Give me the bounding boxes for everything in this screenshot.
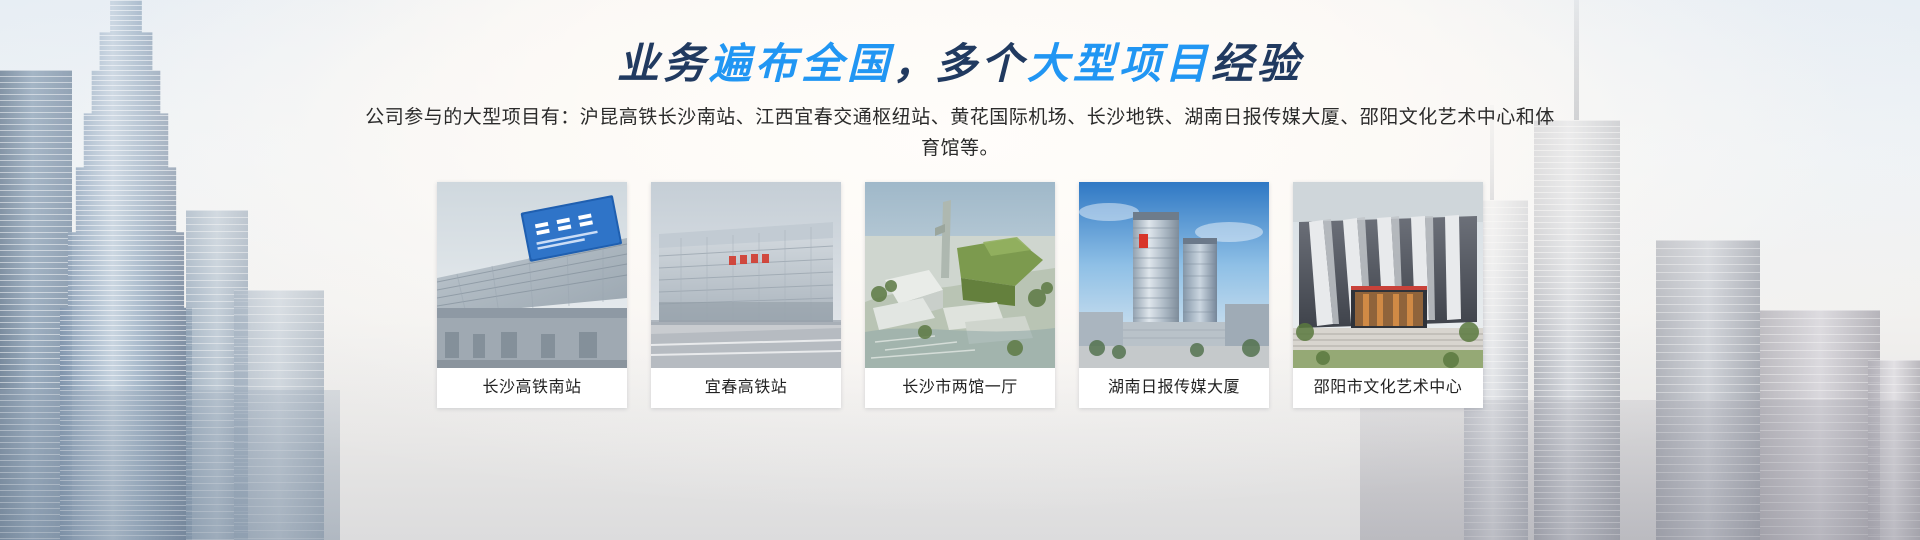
title-segment-6: 经验 [1211,39,1303,88]
project-caption: 长沙高铁南站 [437,368,627,408]
page-title: 业务遍布全国，多个大型项目经验 [0,36,1920,92]
project-caption: 长沙市两馆一厅 [865,368,1055,408]
station-facade-photo [651,182,841,368]
page-subtitle: 公司参与的大型项目有：沪昆高铁长沙南站、江西宜春交通枢纽站、黄花国际机场、长沙地… [360,102,1560,164]
project-card[interactable]: 宜春高铁站 [651,182,841,408]
project-card[interactable]: 湖南日报传媒大厦 [1079,182,1269,408]
title-segment-3: 多个 [935,39,1027,88]
project-caption: 湖南日报传媒大厦 [1079,368,1269,408]
office-tower-photo [1079,182,1269,368]
title-segment-0: 业务 [617,39,709,88]
project-card[interactable]: 长沙市两馆一厅 [865,182,1055,408]
arts-center-photo [1293,182,1483,368]
project-caption: 邵阳市文化艺术中心 [1293,368,1483,408]
railway-station-photo [437,182,627,368]
project-gallery: 长沙高铁南站 [0,182,1920,408]
project-card[interactable]: 邵阳市文化艺术中心 [1293,182,1483,408]
title-segment-5: 项目 [1119,39,1211,88]
title-segment-4: 大型 [1027,39,1119,88]
banner-content: 业务遍布全国，多个大型项目经验 公司参与的大型项目有：沪昆高铁长沙南站、江西宜春… [0,0,1920,540]
title-segment-1: 遍布全国 [709,39,893,88]
project-card[interactable]: 长沙高铁南站 [437,182,627,408]
project-caption: 宜春高铁站 [651,368,841,408]
title-segment-2: ， [893,39,935,88]
cultural-complex-photo [865,182,1055,368]
